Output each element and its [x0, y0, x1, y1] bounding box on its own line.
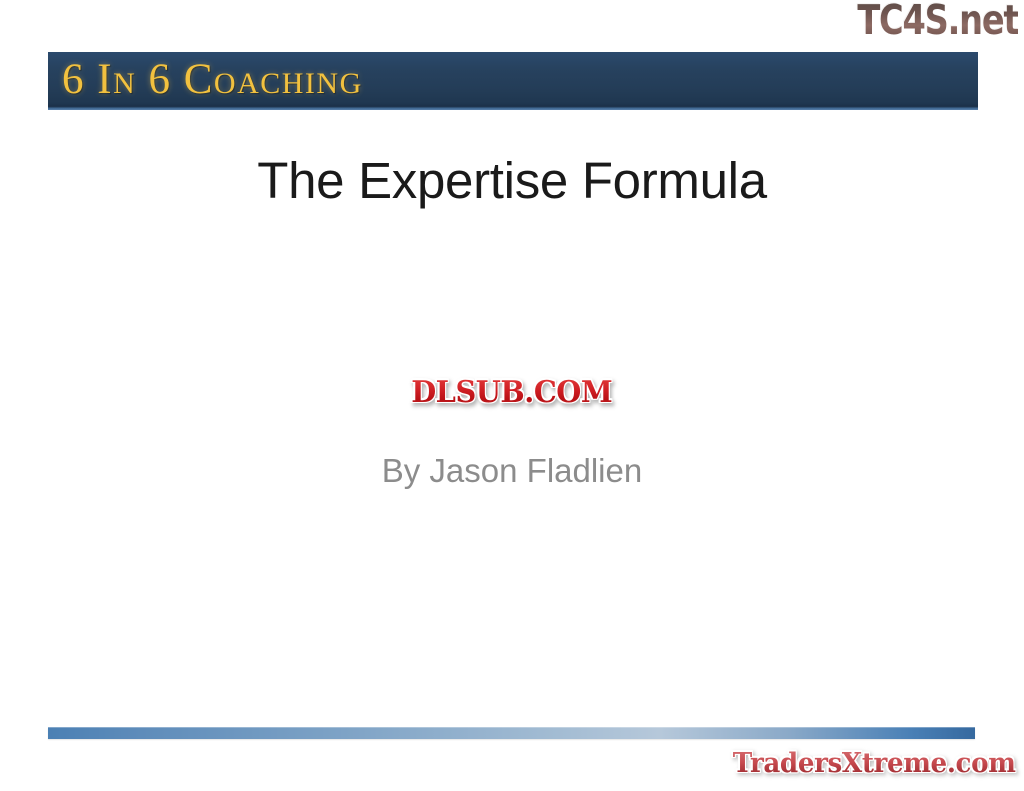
- tc4s-watermark: TC4S.net: [857, 0, 1018, 42]
- slide-subtitle: By Jason Fladlien: [0, 450, 1024, 492]
- subtitle-block: By Jason Fladlien: [0, 450, 1024, 492]
- footer-bar: [48, 727, 975, 739]
- header-banner-title: 6 In 6 Coaching: [62, 54, 363, 106]
- presentation-slide: TC4S.net 6 In 6 Coaching The Expertise F…: [0, 0, 1024, 791]
- slide-body: The Expertise Formula DLSUB.COM By Jason…: [0, 150, 1024, 690]
- slide-title: The Expertise Formula: [0, 150, 1024, 212]
- dlsub-watermark-text: DLSUB.COM: [411, 376, 612, 410]
- title-block: The Expertise Formula: [0, 150, 1024, 212]
- tradersxtreme-watermark: TradersXtreme.com: [733, 748, 1016, 780]
- header-banner: 6 In 6 Coaching: [48, 52, 978, 110]
- dlsub-watermark: DLSUB.COM: [0, 376, 1024, 410]
